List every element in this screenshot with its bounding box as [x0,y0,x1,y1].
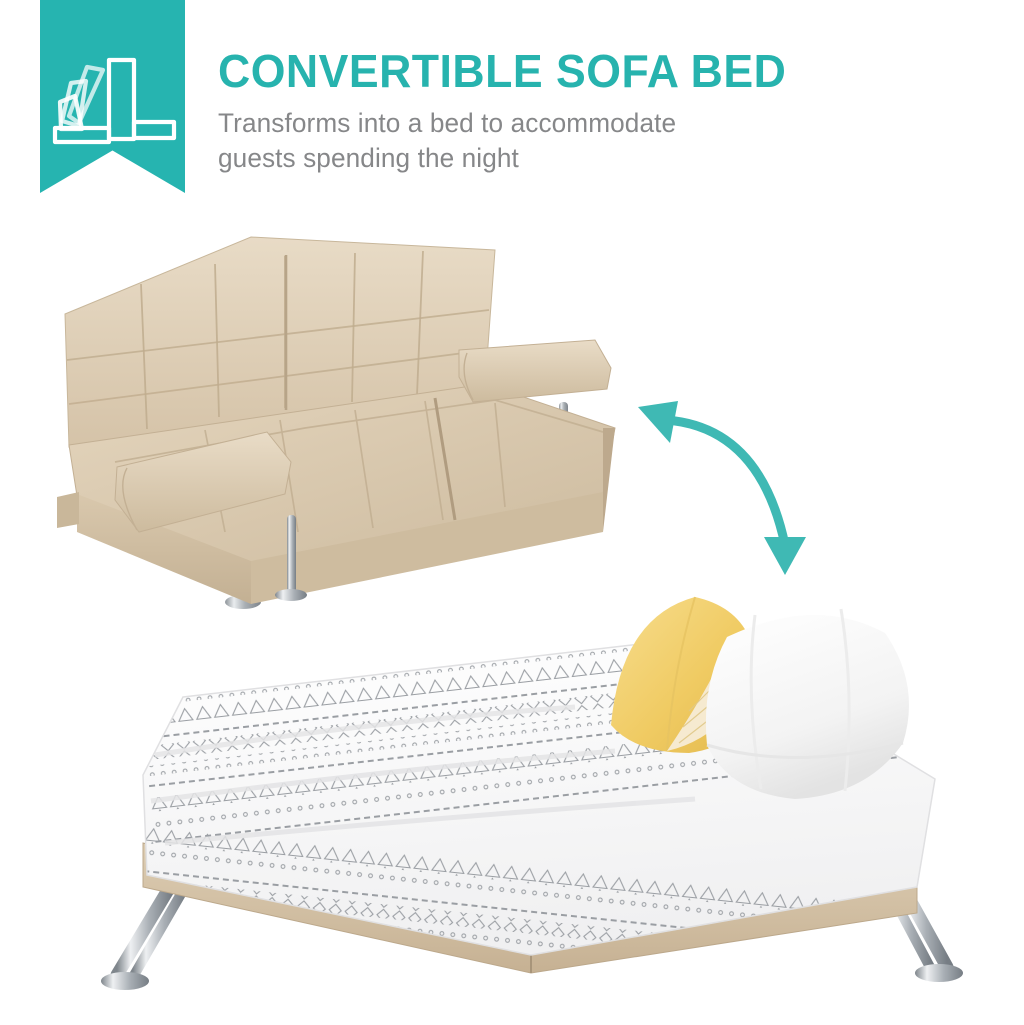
bed-leg-left [101,885,185,990]
sofa-bolster-right [459,340,611,402]
page-subtitle-line1: Transforms into a bed to accommodate [218,106,955,141]
product-feature-page: CONVERTIBLE SOFA BED Transforms into a b… [0,0,1024,1025]
sofa-product-image [55,232,675,632]
bed-product-image [55,575,970,1020]
sofa-frame-ledge [57,492,79,528]
page-subtitle: Transforms into a bed to accommodate gue… [218,106,955,175]
header-text-block: CONVERTIBLE SOFA BED Transforms into a b… [218,48,978,175]
header: CONVERTIBLE SOFA BED Transforms into a b… [0,0,1024,215]
page-subtitle-line2: guests spending the night [218,141,955,176]
convertible-sofa-bed-icon [46,50,181,160]
arrow-curve-path [666,420,785,545]
page-title: CONVERTIBLE SOFA BED [218,48,955,94]
arrowhead-upper-left [638,401,678,443]
curved-double-arrow [630,385,820,580]
arrowhead-lower-down [764,537,806,575]
